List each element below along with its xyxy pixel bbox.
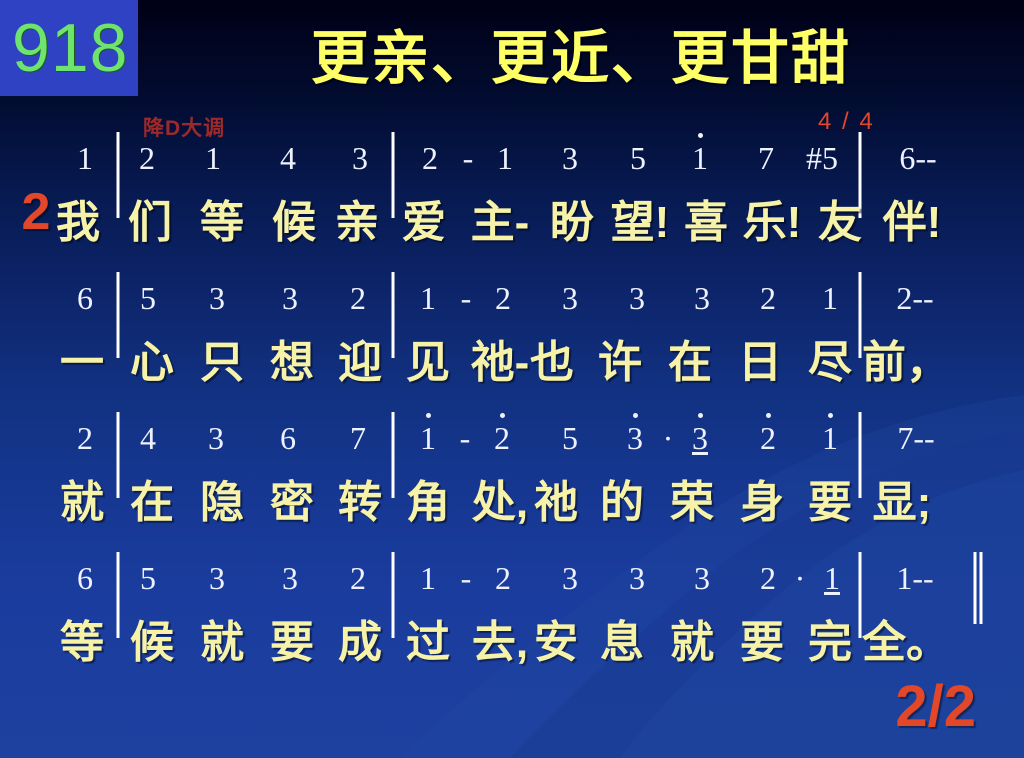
lyric-character: 想 — [270, 326, 314, 390]
note-token: · — [663, 420, 674, 457]
lyric-character: 隐 — [200, 466, 244, 530]
note-token: 1 — [420, 420, 436, 457]
note-token: 1 — [822, 420, 838, 457]
lyric-character: 要 — [808, 466, 852, 530]
lyric-character: 伴! — [883, 186, 942, 250]
lyric-character: 身 — [740, 466, 784, 530]
lyric-character: 完 — [808, 606, 852, 670]
note-token: 3 — [692, 420, 708, 457]
note-token: 3 — [629, 560, 645, 597]
lyric-row: 就在隐密转角处,祂的荣身要显; — [0, 466, 1024, 528]
lyric-character: 也 — [530, 326, 574, 390]
lyric-row: 等候就要成过去,安息就要完全。 — [0, 606, 1024, 668]
lyric-character: 要 — [740, 606, 784, 670]
note-token: 7-- — [897, 420, 934, 457]
note-token: 2 — [495, 560, 511, 597]
note-token: 2 — [350, 280, 366, 317]
lyric-character: 只 — [200, 326, 244, 390]
verse-number: 2 — [22, 182, 51, 242]
lyric-character: 显; — [873, 466, 932, 530]
note-token: 1 — [420, 560, 436, 597]
note-token: · — [795, 560, 806, 597]
lyric-character: 喜 — [684, 186, 728, 250]
lyric-character: 等 — [60, 606, 104, 670]
note-token: 2 — [495, 280, 511, 317]
lyric-row: 一心只想迎见祂-也许在日尽前， — [0, 326, 1024, 388]
note-token: 5 — [562, 420, 578, 457]
lyric-character: 见 — [406, 326, 450, 390]
note-token: 1 — [824, 560, 840, 597]
note-token: - — [461, 560, 472, 597]
music-system: 653321-23332·11--等候就要成过去,安息就要完全。 — [0, 560, 1024, 668]
note-token: 3 — [694, 280, 710, 317]
note-token: 3 — [694, 560, 710, 597]
lyric-character: 就 — [200, 606, 244, 670]
lyric-character: 许 — [598, 326, 642, 390]
note-token: 2 — [139, 140, 155, 177]
lyric-character: 就 — [60, 466, 104, 530]
lyric-character: 全。 — [862, 606, 950, 670]
note-token: 5 — [140, 560, 156, 597]
lyric-character: 祂 — [534, 466, 578, 530]
note-token: 3 — [282, 560, 298, 597]
music-system: 653321-2333212--一心只想迎见祂-也许在日尽前， — [0, 280, 1024, 388]
lyric-character: 要 — [270, 606, 314, 670]
note-token: 6-- — [899, 140, 936, 177]
note-token: - — [463, 140, 474, 177]
time-signature: 4 / 4 — [818, 108, 875, 136]
note-token: 1 — [497, 140, 513, 177]
note-token: 3 — [627, 420, 643, 457]
note-token: - — [461, 280, 472, 317]
note-token: 7 — [758, 140, 774, 177]
note-token: 6 — [77, 560, 93, 597]
lyric-character: 就 — [670, 606, 714, 670]
note-token: 3 — [208, 420, 224, 457]
note-token: 1 — [822, 280, 838, 317]
note-token: 2 — [760, 560, 776, 597]
lyric-character: 密 — [270, 466, 314, 530]
notation-row: 653321-23332·11-- — [0, 560, 1024, 606]
lyric-character: 的 — [600, 466, 644, 530]
note-token: 5 — [140, 280, 156, 317]
lyric-character: 候 — [130, 606, 174, 670]
note-token: 2 — [77, 420, 93, 457]
lyric-character: 我 — [56, 186, 100, 250]
note-token: 1-- — [896, 560, 933, 597]
note-token: 6 — [77, 280, 93, 317]
lyric-character: 处, — [472, 466, 528, 530]
key-signature: 降D大调 — [143, 112, 225, 142]
lyric-character: 在 — [668, 326, 712, 390]
note-token: 4 — [140, 420, 156, 457]
lyric-character: 爱 — [402, 186, 446, 250]
lyric-character: 去, — [472, 606, 528, 670]
note-token: 3 — [282, 280, 298, 317]
note-token: 4 — [280, 140, 296, 177]
lyric-character: 祂- — [471, 326, 530, 390]
note-token: 3 — [562, 280, 578, 317]
lyric-character: 尽 — [808, 326, 852, 390]
note-token: 3 — [629, 280, 645, 317]
lyric-row: 2我们等候亲爱主-盼望!喜乐!友伴! — [0, 186, 1024, 248]
music-system: 121432-13517#56--2我们等候亲爱主-盼望!喜乐!友伴! — [0, 140, 1024, 248]
lyric-character: 盼 — [550, 186, 594, 250]
hymn-slide: 918 更亲、更近、更甘甜 降D大调 4 / 4 121432-13517#56… — [0, 0, 1024, 758]
notation-row: 121432-13517#56-- — [0, 140, 1024, 186]
notation-row: 653321-2333212-- — [0, 280, 1024, 326]
lyric-character: 乐! — [743, 186, 802, 250]
lyric-character: 荣 — [670, 466, 714, 530]
note-token: 2 — [760, 420, 776, 457]
note-token: 1 — [77, 140, 93, 177]
note-token: 6 — [280, 420, 296, 457]
lyric-character: 成 — [338, 606, 382, 670]
page-title: 更亲、更近、更甘甜 — [138, 22, 1024, 96]
lyric-character: 日 — [738, 326, 782, 390]
lyric-character: 等 — [200, 186, 244, 250]
lyric-character: 过 — [406, 606, 450, 670]
lyric-character: 们 — [128, 186, 172, 250]
note-token: #5 — [806, 140, 838, 177]
lyric-character: 迎 — [338, 326, 382, 390]
note-token: 2-- — [896, 280, 933, 317]
note-token: 3 — [209, 280, 225, 317]
note-token: 2 — [422, 140, 438, 177]
lyric-character: 安 — [534, 606, 578, 670]
lyric-character: 望! — [611, 186, 670, 250]
note-token: 2 — [760, 280, 776, 317]
lyric-character: 亲 — [335, 186, 379, 250]
note-token: 5 — [630, 140, 646, 177]
note-token: 3 — [352, 140, 368, 177]
note-token: 1 — [692, 140, 708, 177]
lyric-character: 角 — [406, 466, 450, 530]
notation-row: 243671-253·3217-- — [0, 420, 1024, 466]
lyric-character: 在 — [130, 466, 174, 530]
lyric-character: 一 — [60, 326, 104, 390]
note-token: 3 — [209, 560, 225, 597]
lyric-character: 主- — [471, 186, 530, 250]
note-token: 3 — [562, 140, 578, 177]
note-token: 1 — [420, 280, 436, 317]
note-token: 3 — [562, 560, 578, 597]
lyric-character: 息 — [600, 606, 644, 670]
note-token: 7 — [350, 420, 366, 457]
note-token: - — [460, 420, 471, 457]
lyric-character: 前， — [862, 326, 950, 390]
hymn-number: 918 — [12, 2, 128, 94]
lyric-character: 友 — [818, 186, 862, 250]
lyric-character: 转 — [338, 466, 382, 530]
note-token: 1 — [205, 140, 221, 177]
lyric-character: 候 — [272, 186, 316, 250]
lyric-character: 心 — [130, 326, 174, 390]
note-token: 2 — [350, 560, 366, 597]
page-marker: 2/2 — [895, 673, 976, 740]
note-token: 2 — [494, 420, 510, 457]
music-system: 243671-253·3217--就在隐密转角处,祂的荣身要显; — [0, 420, 1024, 528]
